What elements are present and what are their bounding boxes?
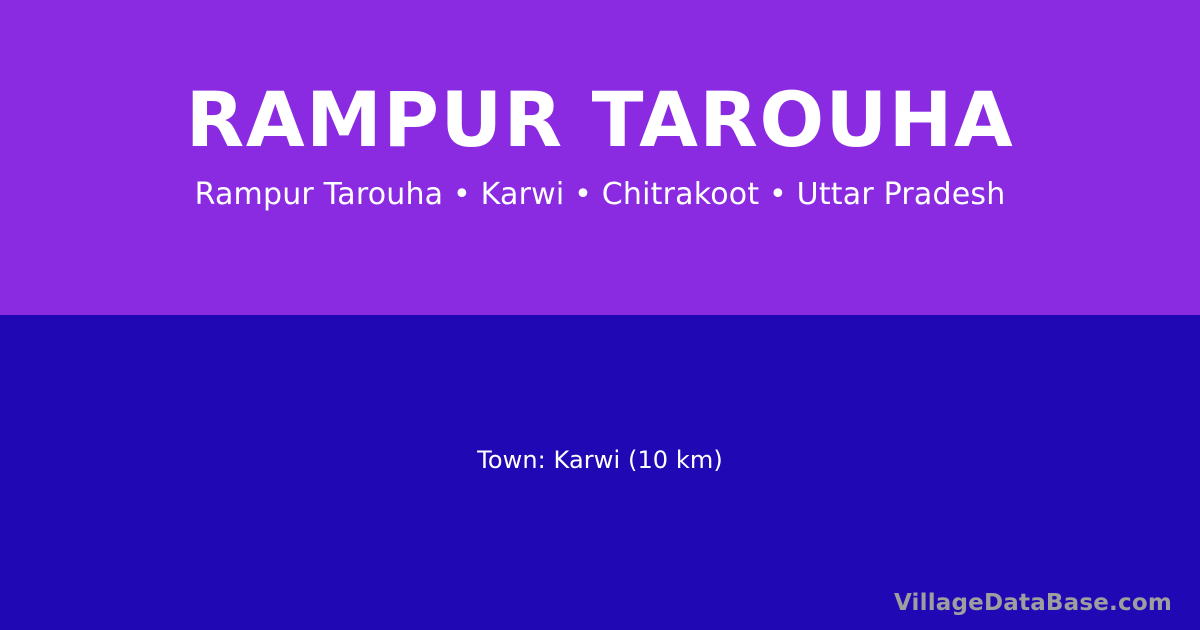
nearest-town-text: Town: Karwi (10 km) [477,446,723,475]
village-info-card: RAMPUR TAROUHA Rampur Tarouha • Karwi • … [0,0,1200,630]
page-title: RAMPUR TAROUHA [186,82,1014,158]
location-breadcrumb: Rampur Tarouha • Karwi • Chitrakoot • Ut… [195,178,1006,211]
site-watermark: VillageDataBase.com [894,590,1172,618]
card-body-panel: Town: Karwi (10 km) [0,315,1200,630]
nearest-town-row: Town: Karwi (10 km) [0,315,1200,630]
card-header-banner: RAMPUR TAROUHA Rampur Tarouha • Karwi • … [0,0,1200,315]
